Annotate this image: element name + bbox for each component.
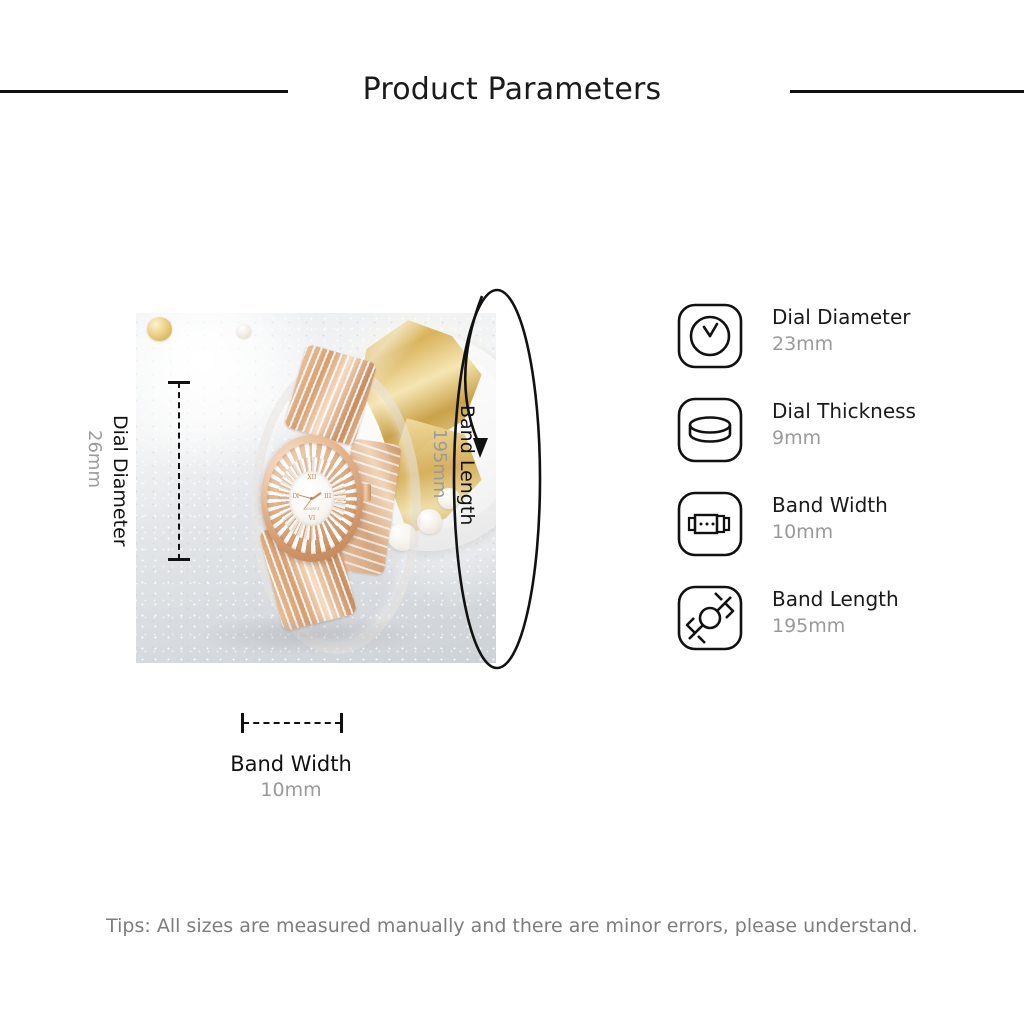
spec-value: 195mm [772, 613, 899, 640]
spec-text-dial-thickness: Dial Thickness 9mm [772, 398, 916, 452]
watch-dial-icon [676, 302, 744, 370]
dial-brand-text: QUARTZ [304, 507, 320, 511]
header-rule-right [790, 90, 1024, 93]
band-width-cap-right [340, 713, 343, 733]
spec-row-band-width: Band Width 10mm [676, 490, 1006, 584]
band-width-callout-value: 10mm [143, 779, 439, 801]
watch-strap-icon [676, 584, 744, 652]
dial-diameter-measure-line [178, 382, 180, 560]
clasp-buckle-icon [676, 490, 744, 558]
dial-diameter-callout-value: 26mm [84, 430, 105, 488]
spec-row-dial-thickness: Dial Thickness 9mm [676, 396, 1006, 490]
dial-diameter-cap-bottom [168, 558, 190, 561]
spec-label: Band Length [772, 586, 899, 613]
spec-value: 9mm [772, 425, 916, 452]
dial-numeral-3: III [324, 494, 331, 500]
spec-text-dial-diameter: Dial Diameter 23mm [772, 304, 911, 358]
spec-value: 23mm [772, 331, 911, 358]
spec-label: Band Width [772, 492, 888, 519]
band-width-callout-label: Band Width [143, 752, 439, 776]
spec-list: Dial Diameter 23mm Dial Thickness 9mm Ba… [676, 302, 1006, 678]
page-header: Product Parameters [0, 62, 1024, 122]
spec-row-dial-diameter: Dial Diameter 23mm [676, 302, 1006, 396]
dial-center-pin [310, 497, 313, 500]
tips-note: Tips: All sizes are measured manually an… [0, 915, 1024, 937]
spec-row-band-length: Band Length 195mm [676, 584, 1006, 678]
spec-label: Dial Diameter [772, 304, 911, 331]
spec-value: 10mm [772, 519, 888, 546]
pearl-prop [237, 324, 251, 338]
band-length-callout-label: Band Length [456, 405, 478, 525]
spec-label: Dial Thickness [772, 398, 916, 425]
watch-shadow [194, 614, 424, 656]
gold-bead-prop [147, 317, 172, 342]
band-width-measure-line [243, 722, 341, 724]
dial-diameter-callout-label: Dial Diameter [109, 415, 131, 547]
dial-numeral-12: XII [307, 475, 316, 481]
spec-text-band-length: Band Length 195mm [772, 586, 899, 640]
watch-case: XII III VI IX QUARTZ [261, 435, 364, 561]
band-length-callout-value: 195mm [429, 429, 450, 498]
wristwatch: XII III VI IX QUARTZ [244, 355, 410, 642]
spec-text-band-width: Band Width 10mm [772, 492, 888, 546]
dial-numeral-6: VI [309, 516, 316, 522]
disc-thickness-icon [676, 396, 744, 464]
